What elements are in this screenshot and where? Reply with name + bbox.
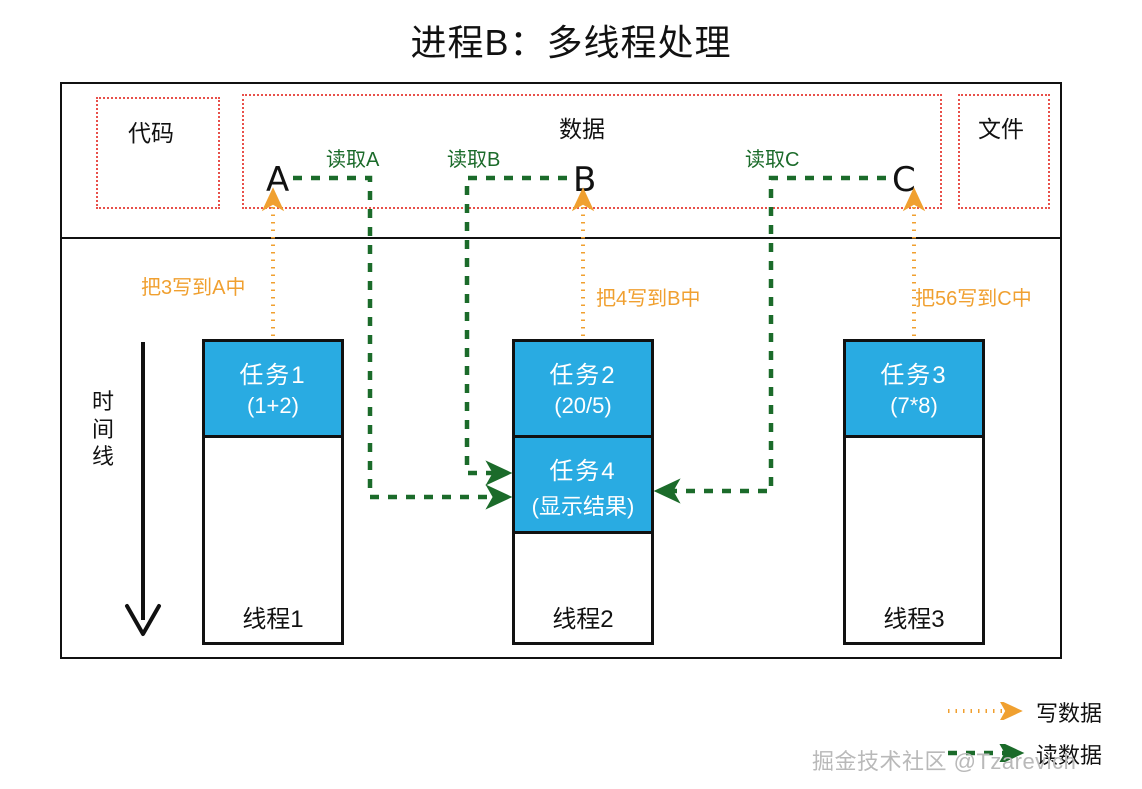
thread-column-1: 任务1 (1+2) 线程1 <box>202 339 344 645</box>
task-name: 任务2 <box>515 355 651 390</box>
thread-name-3: 线程3 <box>846 599 982 634</box>
read-label-a: 读取A <box>326 143 379 172</box>
watermark: 掘金技术社区 @Tzarevich <box>812 744 1076 776</box>
timeline-label: 时 间 线 <box>86 388 120 471</box>
thread-column-2: 任务2 (20/5) 任务4 (显示结果) 线程2 <box>512 339 654 645</box>
write-arrow-glyph-icon <box>946 702 1030 720</box>
memory-thread-divider <box>60 237 1062 239</box>
read-label-b: 读取B <box>447 143 500 172</box>
legend-row-write: 写数据 <box>946 696 1142 738</box>
write-label-c: 把56写到C中 <box>915 282 1032 311</box>
read-label-c: 读取C <box>745 143 799 172</box>
thread-name-2: 线程2 <box>515 599 651 634</box>
page-title: 进程B：多线程处理 <box>0 14 1142 66</box>
thread-name-1: 线程1 <box>205 599 341 634</box>
timeline-char-0: 时 <box>86 388 120 416</box>
variable-c: C <box>892 163 916 197</box>
write-label-b: 把4写到B中 <box>596 282 700 311</box>
legend-label-write: 写数据 <box>1036 696 1102 728</box>
timeline-char-2: 线 <box>86 443 120 471</box>
memory-region-data-label: 数据 <box>559 110 605 144</box>
timeline-char-1: 间 <box>86 416 120 444</box>
task-expression: (1+2) <box>205 393 341 419</box>
task-name: 任务3 <box>846 355 982 390</box>
task-expression: (20/5) <box>515 393 651 419</box>
task-expression: (显示结果) <box>515 489 651 521</box>
task-block-4: 任务4 (显示结果) <box>515 438 651 534</box>
task-name: 任务1 <box>205 355 341 390</box>
variable-b: B <box>573 163 596 197</box>
task-block-2: 任务2 (20/5) <box>515 342 651 438</box>
write-label-a: 把3写到A中 <box>141 271 245 300</box>
task-block-3: 任务3 (7*8) <box>846 342 982 438</box>
thread-column-3: 任务3 (7*8) 线程3 <box>843 339 985 645</box>
task-expression: (7*8) <box>846 393 982 419</box>
task-name: 任务4 <box>515 451 651 486</box>
task-block-1: 任务1 (1+2) <box>205 342 341 438</box>
memory-region-file-label: 文件 <box>978 110 1024 144</box>
diagram-canvas: 进程B：多线程处理 代码 数据 文件 A B C 读取A 读取B 读取C 把3写… <box>0 0 1142 789</box>
variable-a: A <box>266 163 289 197</box>
memory-region-code-label: 代码 <box>128 114 174 148</box>
